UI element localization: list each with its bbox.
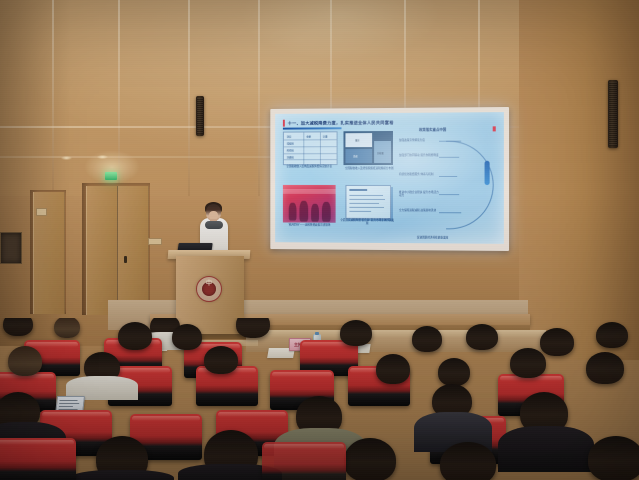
audience-head — [588, 436, 639, 480]
table-rule — [284, 139, 337, 140]
image-label-right: 分析图 — [377, 151, 384, 155]
right-panel-heading: 政策落实重点中国 — [419, 127, 446, 132]
audience-head — [540, 328, 574, 356]
leader-line — [439, 176, 457, 177]
door-sign — [36, 208, 47, 216]
audience-head — [8, 346, 42, 376]
photo-figure — [311, 204, 319, 222]
table-header-cell: 项目 — [287, 135, 292, 139]
slide-center-image: 图示 数据 分析图 — [343, 131, 392, 165]
right-wall — [519, 0, 639, 360]
audience-head — [466, 324, 498, 350]
slide-left-photo-caption: “税月同行”——减税降费政策宣讲现场 — [281, 223, 338, 227]
slide-left-photo — [283, 185, 336, 223]
audience-head — [3, 318, 33, 336]
wall-display-panel — [0, 232, 22, 264]
right-panel-footer: 促进国民经济持续健康发展 — [417, 235, 448, 239]
audience-head — [376, 354, 410, 384]
audience-head — [438, 358, 470, 386]
slide-center-doc-caption: 全面落实减税降费“组合拳” 助力市场主体纾困发展 — [340, 219, 395, 226]
table-rule — [284, 153, 337, 154]
right-panel-arc-highlight — [485, 161, 490, 185]
laptop-screen-line — [59, 400, 77, 401]
right-panel-item: 加强政策宣传解读力度 — [399, 139, 439, 142]
audience-head — [54, 318, 80, 338]
speaker-grill — [609, 82, 617, 146]
presenter-scarf — [205, 221, 223, 229]
doc-line — [349, 199, 385, 200]
audience-head — [596, 322, 628, 348]
slide-center-image-caption: 全国税收收入及增值税留抵退税规模分布图 — [342, 167, 397, 170]
screenshot-root: 十一、加大减税降费力度，扎实推进全体人民共同富裕 项目 金额 比重 增值税 所得… — [0, 0, 639, 480]
slide-title: 十一、加大减税降费力度，扎实推进全体人民共同富裕 — [288, 119, 394, 126]
leader-line — [439, 141, 461, 142]
left-wall-speaker — [196, 96, 204, 136]
photo-figure — [289, 203, 297, 221]
doc-heading-bar — [349, 189, 367, 191]
image-label-bottom: 数据 — [353, 154, 357, 158]
photo-figure — [322, 202, 331, 222]
leader-line — [439, 194, 459, 195]
auditorium-room: 十一、加大减税降费力度，扎实推进全体人民共同富裕 项目 金额 比重 增值税 所得… — [0, 0, 639, 480]
doc-line — [349, 211, 371, 212]
photo-banner — [283, 189, 336, 194]
emblem-glyph: 中 — [197, 281, 221, 288]
table-header-cell: 比重 — [323, 134, 328, 138]
audience-head — [236, 318, 270, 338]
right-panel-item: 全力保障退税减税 政策落地见效 — [399, 209, 439, 212]
doc-line — [349, 207, 384, 208]
slide-title-underline — [283, 127, 342, 129]
laptop-screen-line — [59, 406, 73, 407]
audience-head — [344, 438, 396, 480]
audience-head — [440, 442, 496, 480]
right-panel-item: 持续优化税费服务 体系与机制 — [399, 173, 439, 176]
leader-line — [439, 157, 459, 158]
audience-seat — [262, 442, 346, 480]
doc-line — [349, 203, 379, 204]
slide-left-table: 项目 金额 比重 增值税 所得税 消费税 — [283, 131, 338, 165]
doc-line — [349, 195, 383, 196]
audience-head — [204, 346, 238, 374]
audience-head — [586, 352, 624, 384]
projection-screen-frame: 十一、加大减税降费力度，扎实推进全体人民共同富裕 项目 金额 比重 增值税 所得… — [270, 107, 509, 251]
slide-right-panel: 政策落实重点中国 加强政策宣传解读力度 加强部门协同联动 提升办税便利度 持续优… — [397, 126, 498, 239]
audience-head — [340, 320, 372, 346]
photo-figure — [299, 201, 308, 222]
image-label-top: 图示 — [355, 138, 359, 142]
wall-seam — [188, 0, 190, 196]
stage-left-door-2-leaf-b[interactable] — [117, 186, 149, 315]
audience-head — [412, 326, 442, 352]
door-gap — [117, 186, 118, 315]
audience-head — [510, 348, 546, 378]
speaker-grill — [197, 98, 203, 134]
table-rule — [284, 146, 337, 147]
slide-left-table-caption: 全国税收收入结构及减税降费情况统计表 — [281, 165, 338, 168]
right-wall-speaker — [608, 80, 618, 148]
image-block-b — [345, 149, 372, 163]
audience-shoulders — [70, 470, 174, 480]
wall-plaque — [148, 238, 162, 245]
audience-seat — [0, 438, 76, 480]
slide-center-document — [345, 185, 391, 219]
door-handle[interactable] — [124, 256, 127, 263]
leader-line — [439, 212, 461, 213]
ceiling-light-glow — [84, 150, 140, 184]
laptop-screen-line — [59, 403, 79, 404]
table-cell: 增值税 — [287, 141, 294, 145]
ceiling-downlight — [61, 156, 72, 160]
audience-shoulders — [498, 426, 594, 472]
projected-slide: 十一、加大减税降费力度，扎实推进全体人民共同富裕 项目 金额 比重 增值税 所得… — [275, 112, 504, 244]
audience-area — [0, 318, 639, 480]
slide-title-bullet — [283, 120, 285, 127]
table-cell: 消费税 — [287, 155, 294, 159]
right-panel-item: 推进中小微企业帮扶 提升市场活力动力 — [399, 191, 439, 198]
right-panel-accent-mark — [493, 126, 496, 131]
table-header-cell: 金额 — [306, 134, 311, 138]
audience-head — [172, 324, 202, 350]
table-cell: 所得税 — [287, 148, 294, 152]
audience-head — [118, 322, 152, 350]
stage-left-door-2-leaf-a[interactable] — [86, 186, 118, 315]
podium-emblem: 中 — [196, 276, 222, 302]
right-panel-item: 加强部门协同联动 提升办税便利度 — [399, 154, 439, 157]
